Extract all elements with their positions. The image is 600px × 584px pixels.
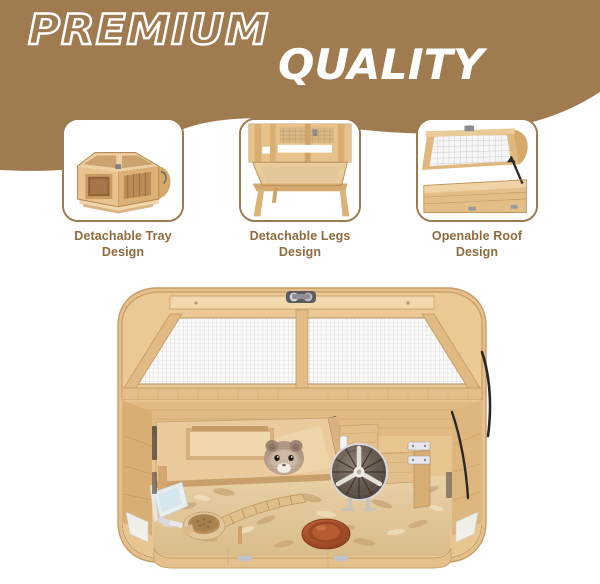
hamster-illustration <box>264 440 304 475</box>
feature-card-frame <box>239 118 361 222</box>
hero-product-image <box>78 276 522 576</box>
ceramic-bowl-illustration <box>302 519 350 549</box>
caption-line-2: Design <box>225 245 375 261</box>
feature-card-frame <box>62 118 184 222</box>
feature-card-caption: Openable Roof Design <box>402 229 552 260</box>
feature-card-openable-roof[interactable]: Openable Roof Design <box>402 118 552 268</box>
detachable-legs-illustration <box>241 118 359 222</box>
feature-card-detachable-legs[interactable]: Detachable Legs Design <box>225 118 375 268</box>
wooden-food-bowl-illustration <box>182 512 225 540</box>
caption-line-1: Openable Roof <box>402 229 552 245</box>
feature-cards-row: Detachable Tray Design <box>0 118 600 268</box>
infographic-page: PREMIUM QUALITY <box>0 0 600 584</box>
feature-card-frame <box>416 118 538 222</box>
caption-line-2: Design <box>48 245 198 261</box>
caption-line-2: Design <box>402 245 552 261</box>
detachable-tray-illustration <box>64 118 182 222</box>
openable-roof-illustration <box>418 118 536 222</box>
caption-line-1: Detachable Tray <box>48 229 198 245</box>
feature-card-detachable-tray[interactable]: Detachable Tray Design <box>48 118 198 268</box>
roof-latch-icon <box>286 291 316 303</box>
caption-line-1: Detachable Legs <box>225 229 375 245</box>
feature-card-caption: Detachable Legs Design <box>225 229 375 260</box>
feature-card-caption: Detachable Tray Design <box>48 229 198 260</box>
